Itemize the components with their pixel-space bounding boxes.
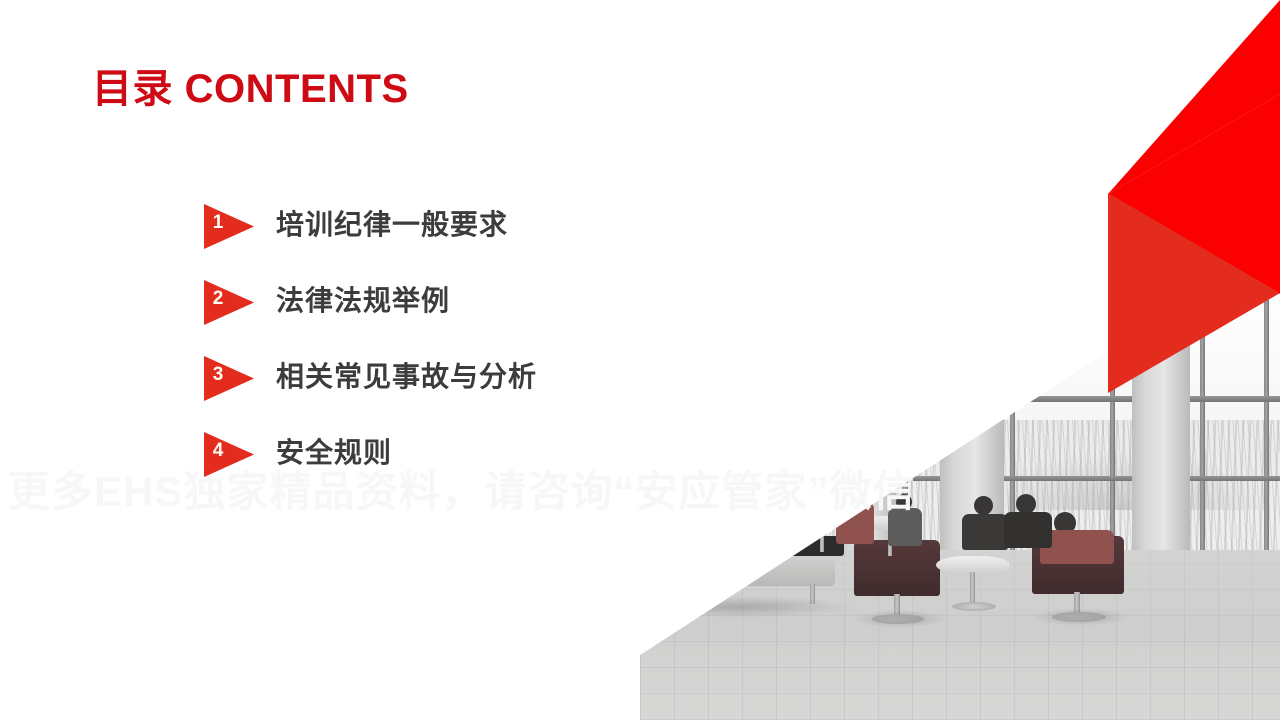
bullet-number: 3: [210, 365, 226, 384]
page-title: 目录 CONTENTS: [92, 56, 409, 114]
photo-mullion: [684, 300, 689, 558]
photo-mullion: [790, 300, 795, 558]
photo-furniture-leg: [970, 572, 975, 606]
bullet-number: 1: [210, 213, 226, 232]
contents-item-label: 相关常见事故与分析: [276, 355, 537, 395]
photo-railing: [640, 496, 880, 500]
photo-content: [640, 300, 1280, 720]
photo-bench-pad: [640, 528, 740, 550]
photo-furniture-leg: [820, 524, 824, 552]
photo-table: [796, 512, 850, 525]
photo-mullion: [1264, 300, 1269, 558]
contents-item-label: 法律法规举例: [276, 279, 450, 319]
bullet-marker-1: 1: [204, 204, 254, 249]
contents-slide: 更多EHS独家精品资料，请咨询“安应管家”微信 目录 CONTENTS 1 培训…: [0, 0, 1280, 720]
page-title-en: CONTENTS: [185, 67, 409, 111]
bullet-marker-2: 2: [204, 280, 254, 325]
bullet-number: 4: [210, 441, 226, 460]
bullet-marker-4: 4: [204, 432, 254, 477]
bullet-number: 2: [210, 289, 226, 308]
photo-transom: [790, 336, 1030, 341]
photo-column: [738, 300, 782, 558]
contents-item-label: 培训纪律一般要求: [276, 203, 508, 243]
photo-table: [646, 508, 698, 521]
photo-shadow: [1032, 608, 1130, 626]
photo-furniture-foot: [952, 602, 996, 611]
contents-item-label: 安全规则: [276, 431, 392, 471]
photo-furniture-leg: [668, 520, 672, 548]
page-title-spacer: [173, 67, 185, 111]
page-title-cn: 目录: [92, 67, 173, 111]
bullet-marker-3: 3: [204, 356, 254, 401]
photo-exit-sign: [982, 392, 996, 401]
photo-shadow: [854, 610, 946, 628]
photo-column: [640, 300, 678, 558]
photo-furniture-leg: [650, 584, 655, 604]
photo-armchair: [854, 540, 940, 596]
